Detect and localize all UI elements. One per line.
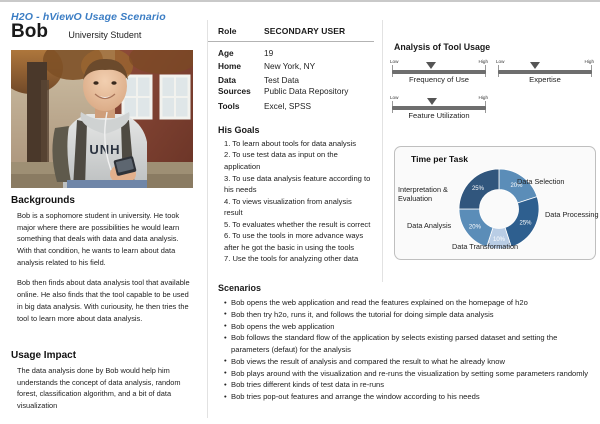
list-item: Bob follows the standard flow of the app…	[224, 332, 592, 356]
slider-ends: Low High	[390, 95, 488, 104]
slider-marker-triangle-icon[interactable]	[426, 62, 436, 69]
list-item: Bob plays around with the visualization …	[224, 368, 592, 380]
left-column: Bob University Student	[0, 20, 207, 47]
role-row: Role SECONDARY USER	[208, 20, 374, 42]
attribute-value-age: 19	[264, 48, 273, 60]
slider-bar[interactable]	[498, 70, 592, 74]
backgrounds-section: Backgrounds Bob is a sophomore student i…	[0, 195, 207, 333]
slider-low-label: Low	[390, 95, 398, 100]
column-divider-right	[382, 20, 383, 282]
persona-document: H2O - hViewO Usage Scenario Bob Universi…	[0, 0, 600, 424]
persona-photo: UNH	[11, 50, 193, 188]
donut-label-data-processing: Data Processing	[545, 210, 599, 219]
slider-high-label: High	[479, 95, 488, 100]
scenarios-heading: Scenarios	[218, 283, 600, 293]
time-per-task-card: Time per Task 20%25%10%20%25% Data Selec…	[394, 146, 596, 260]
usage-impact-body: The data analysis done by Bob would help…	[17, 365, 193, 412]
backgrounds-heading: Backgrounds	[11, 195, 207, 206]
attribute-key-age: Age	[218, 48, 264, 60]
donut-segment-value-label: 25%	[472, 186, 485, 192]
scenarios-list: Bob opens the web application and read t…	[208, 297, 600, 403]
list-item: Bob views the result of analysis and com…	[224, 356, 592, 368]
attribute-key-data-sources: Data Sources	[218, 75, 264, 99]
slider-label: Frequency of Use	[390, 75, 488, 84]
slider-ends: Low High	[496, 59, 594, 68]
persona-name: Bob	[11, 20, 48, 44]
usage-impact-section: Usage Impact The data analysis done by B…	[0, 350, 207, 421]
slider-frequency-of-use[interactable]: Low High Frequency of Use	[390, 59, 488, 68]
slider-high-label: High	[479, 59, 488, 64]
list-item: 4. To views visualization from analysis …	[224, 196, 372, 219]
goals-list: 1. To learn about tools for data analysi…	[208, 138, 382, 265]
attribute-value-data-sources: Test Data Public Data Repository	[264, 75, 348, 99]
backgrounds-paragraph-2: Bob then finds about data analysis tool …	[17, 277, 193, 324]
backgrounds-body: Bob is a sophomore student in university…	[17, 210, 193, 324]
chart-title: Time per Task	[411, 154, 468, 164]
tool-usage-heading: Analysis of Tool Usage	[394, 42, 600, 52]
goals-heading: His Goals	[218, 125, 382, 135]
profile-attributes-table: Age 19 Home New York, NY Data Sources Te…	[208, 42, 382, 113]
list-item: Bob tries different kinds of test data i…	[224, 379, 592, 391]
attribute-value-home: New York, NY	[264, 61, 315, 73]
persona-role-label: University Student	[68, 30, 141, 44]
list-item: 3. To use data analysis feature accordin…	[224, 173, 372, 196]
middle-column: Role SECONDARY USER Age 19 Home New York…	[208, 20, 382, 265]
table-row: Home New York, NY	[218, 61, 382, 73]
slider-feature-utilization[interactable]: Low High Feature Utilization	[390, 95, 488, 104]
donut-label-data-selection: Data Selection	[517, 177, 564, 186]
donut-label-data-transformation: Data Transformation	[452, 242, 518, 251]
slider-expertise[interactable]: Low High Expertise	[496, 59, 594, 68]
right-column: Analysis of Tool Usage Low High Frequenc…	[386, 20, 600, 127]
slider-marker-triangle-icon[interactable]	[530, 62, 540, 69]
slider-marker-triangle-icon[interactable]	[427, 98, 437, 105]
usage-impact-text: The data analysis done by Bob would help…	[17, 365, 193, 412]
usage-impact-heading: Usage Impact	[11, 350, 207, 361]
slider-low-label: Low	[496, 59, 504, 64]
list-item: 7. Use the tools for analyzing other dat…	[224, 253, 372, 265]
attribute-key-home: Home	[218, 61, 264, 73]
slider-high-label: High	[585, 59, 594, 64]
slider-label: Feature Utilization	[390, 111, 488, 120]
slider-low-label: Low	[390, 59, 398, 64]
list-item: 5. To evaluates whether the result is co…	[224, 219, 372, 231]
table-row: Data Sources Test Data Public Data Repos…	[218, 75, 382, 99]
donut-segment-value-label: 20%	[469, 225, 482, 231]
table-row: Age 19	[218, 48, 382, 60]
scenarios-section: Scenarios Bob opens the web application …	[208, 283, 600, 403]
slider-bar[interactable]	[392, 106, 486, 110]
attribute-value-tools: Excel, SPSS	[264, 101, 311, 113]
donut-label-data-analysis: Data Analysis	[407, 221, 451, 230]
list-item: Bob opens the web application and read t…	[224, 297, 592, 309]
role-value: SECONDARY USER	[264, 26, 345, 36]
list-item: Bob tries pop-out features and arrange t…	[224, 391, 592, 403]
slider-ends: Low High	[390, 59, 488, 68]
role-key: Role	[218, 26, 264, 36]
list-item: 1. To learn about tools for data analysi…	[224, 138, 372, 150]
list-item: 6. To use the tools in more advance ways…	[224, 230, 372, 253]
slider-bar[interactable]	[392, 70, 486, 74]
slider-label: Expertise	[496, 75, 594, 84]
donut-label-interpretation-evaluation: Interpretation & Evaluation	[398, 185, 458, 203]
persona-photo-image: UNH	[11, 50, 193, 188]
donut-segment-value-label: 25%	[519, 221, 532, 227]
list-item: Bob opens the web application	[224, 321, 592, 333]
tool-usage-sliders: Low High Frequency of Use Low High Exper	[386, 59, 600, 127]
persona-header: Bob University Student	[0, 20, 207, 47]
list-item: 2. To use test data as input on the appl…	[224, 149, 372, 172]
attribute-key-tools: Tools	[218, 101, 264, 113]
backgrounds-paragraph-1: Bob is a sophomore student in university…	[17, 210, 193, 268]
list-item: Bob then try h2o, runs it, and follows t…	[224, 309, 592, 321]
table-row: Tools Excel, SPSS	[218, 101, 382, 113]
